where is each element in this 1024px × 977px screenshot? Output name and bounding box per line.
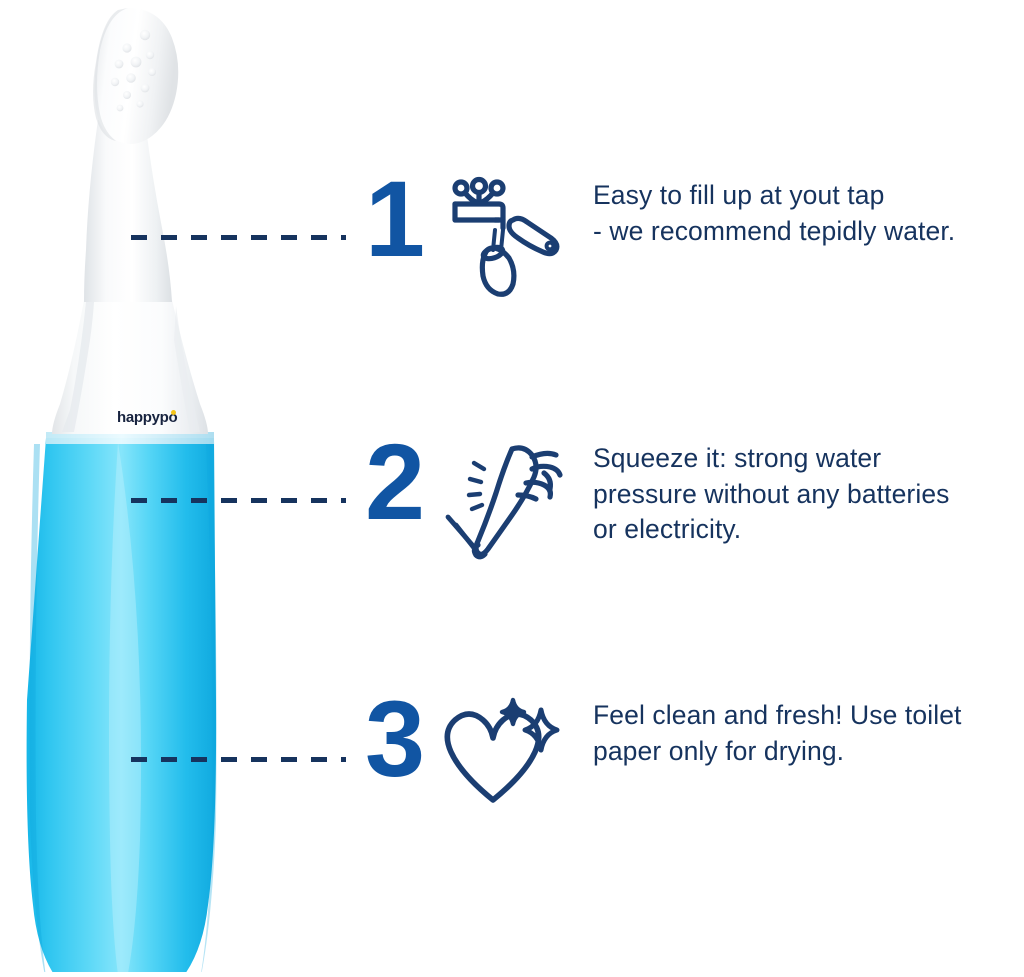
hand-squeeze-icon <box>437 433 569 563</box>
step-number-3: 3 <box>365 686 437 792</box>
leader-line-1 <box>131 235 346 240</box>
step-item-1: 1 Easy to fill up at <box>365 170 1024 300</box>
brand-logo-text: happypo <box>117 409 177 426</box>
leader-line-2 <box>131 498 346 503</box>
bottle-neck <box>84 120 172 302</box>
heart-sparkle-icon <box>437 690 569 820</box>
leader-line-3 <box>131 757 346 762</box>
brand-logo: happypo <box>117 409 177 426</box>
tap-fill-icon <box>437 170 569 300</box>
step-text-2: Squeeze it: strong water pressure withou… <box>569 433 1024 548</box>
step-text-3: Feel clean and fresh! Use toilet paper o… <box>569 690 1024 769</box>
step-text-1: Easy to fill up at yout tap - we recomme… <box>569 170 1024 249</box>
product-image: happypo <box>0 0 260 972</box>
step-item-2: 2 Squeeze it: strong water pressure with… <box>365 433 1024 563</box>
bidet-bottle-illustration <box>0 0 260 972</box>
step-item-3: 3 Feel clean and fresh! Use toilet paper… <box>365 690 1024 820</box>
step-number-1: 1 <box>365 166 437 272</box>
step-number-2: 2 <box>365 429 437 535</box>
